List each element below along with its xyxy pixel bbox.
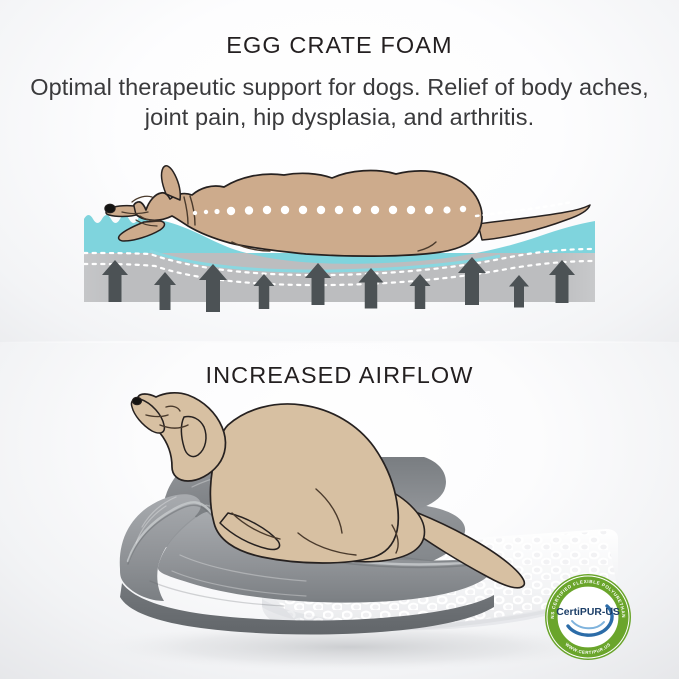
cross-section-svg [0, 150, 679, 335]
airflow-stage: CONTAINS CERTIFIED FLEXIBLE POLYURETHANE… [0, 385, 679, 679]
dog-nose [132, 397, 141, 405]
dog-body [210, 404, 398, 563]
cross-section-stage [0, 150, 679, 335]
infographic-page: EGG CRATE FOAM Optimal therapeutic suppo… [0, 0, 679, 679]
subtitle-line-1: Optimal therapeutic support for dogs. Re… [30, 74, 514, 100]
dog-nose [105, 204, 115, 213]
panel-divider [0, 341, 679, 343]
airflow-svg: CONTAINS CERTIFIED FLEXIBLE POLYURETHANE… [0, 385, 679, 679]
page-title-egg-crate-foam: EGG CRATE FOAM [0, 32, 679, 59]
certipur-us-badge: CONTAINS CERTIFIED FLEXIBLE POLYURETHANE… [545, 574, 631, 660]
subtitle-text: Optimal therapeutic support for dogs. Re… [26, 72, 653, 132]
